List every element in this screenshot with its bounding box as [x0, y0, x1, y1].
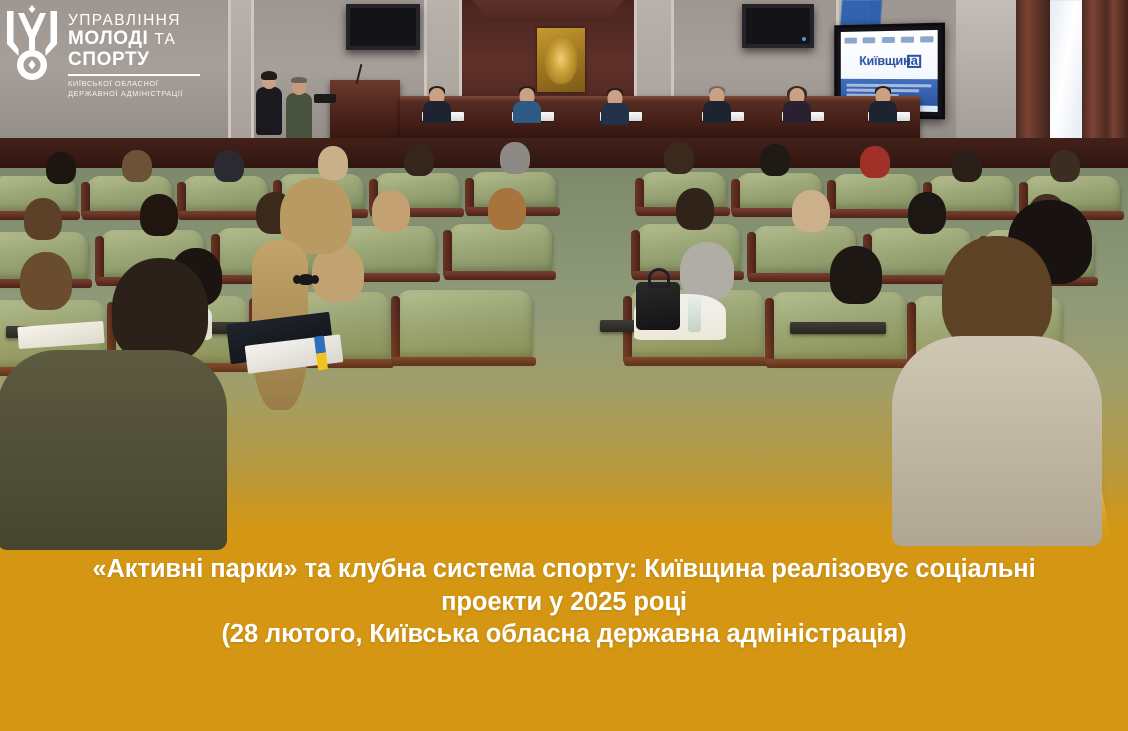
- gold-coat-of-arms-plaque-icon: [537, 28, 585, 92]
- logo-line-sportu: СПОРТУ: [68, 50, 200, 71]
- presidium-person: [422, 88, 452, 120]
- presidium-person: [512, 88, 542, 120]
- presidium-table: [400, 96, 920, 142]
- caption-line-1: «Активні парки» та клубна система спорту…: [16, 553, 1112, 586]
- caption-line-2: проекти у 2025 році: [16, 586, 1112, 619]
- presidium-person: [702, 88, 732, 120]
- slide-title: Київщина: [841, 53, 938, 69]
- hair-bow-icon: [298, 274, 314, 285]
- event-announcement-banner: Київщина: [0, 0, 1128, 731]
- presidium-person: [868, 88, 898, 120]
- logo-divider: [68, 74, 200, 76]
- presidium-person-speaker: [600, 90, 630, 122]
- slide-partner-logos: [845, 34, 934, 44]
- caption-line-3: (28 лютого, Київська обласна державна ад…: [16, 618, 1112, 651]
- water-bottle-prop: [688, 296, 701, 332]
- logo-line-upravlinnya: УПРАВЛІННЯ: [68, 13, 200, 29]
- standing-person: [262, 74, 282, 135]
- wall-monitor-icon: [346, 4, 420, 50]
- cameraman: [292, 80, 312, 145]
- event-caption: «Активні парки» та клубна система спорту…: [0, 553, 1128, 651]
- handbag-strap: [648, 268, 670, 288]
- logo-subtitle-line2: ДЕРЖАВНОЇ АДМІНІСТРАЦІЇ: [68, 89, 200, 99]
- presidium-person: [782, 88, 812, 120]
- logo-wordmark: УПРАВЛІННЯ МОЛОДІ ТА СПОРТУ КИЇВСЬКОЇ ОБ…: [68, 4, 200, 99]
- organization-logo: УПРАВЛІННЯ МОЛОДІ ТА СПОРТУ КИЇВСЬКОЇ ОБ…: [6, 4, 200, 99]
- speaker-podium: [330, 80, 400, 142]
- folding-tray: [790, 322, 886, 334]
- video-camera-icon: [314, 94, 336, 103]
- logo-line-molodi-ta: МОЛОДІ ТА: [68, 29, 200, 50]
- logo-ta: ТА: [154, 31, 176, 48]
- kyiv-region-badge-icon: [907, 55, 921, 68]
- audience-person-foreground: [942, 236, 1052, 352]
- logo-subtitle-line1: КИЇВСЬКОЇ ОБЛАСНОЇ: [68, 79, 200, 89]
- ukrainian-trident-emblem-icon: [6, 4, 58, 82]
- wall-monitor-icon: [742, 4, 814, 48]
- logo-molodi: МОЛОДІ: [68, 28, 148, 49]
- handbag-prop: [636, 282, 680, 330]
